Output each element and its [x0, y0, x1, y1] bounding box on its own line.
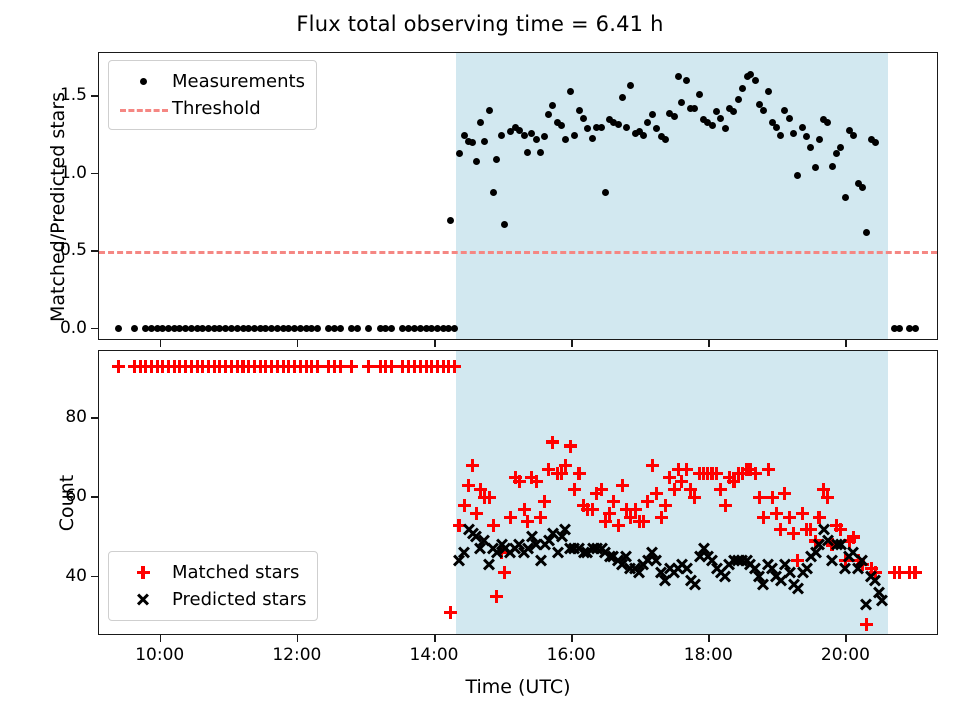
- x-tick-mark-top-panel: [434, 340, 436, 347]
- x-tick-mark: [434, 635, 436, 642]
- y-axis-label-flux-ratio: Matched/Predicted stars: [47, 63, 69, 351]
- page-title: Flux total observing time = 6.41 h: [0, 12, 960, 36]
- x-tick-label: 16:00: [547, 645, 596, 665]
- x-tick-mark: [708, 635, 710, 642]
- x-tick-label: 10:00: [135, 645, 184, 665]
- y-tick-mark: [91, 496, 98, 498]
- x-tick-mark-top-panel: [160, 340, 162, 347]
- legend-item-matched-stars[interactable]: Matched stars: [118, 559, 306, 586]
- legend-item-measurements[interactable]: Measurements: [118, 68, 305, 95]
- x-ticks: 10:0012:0014:0016:0018:0020:00: [98, 635, 938, 680]
- legend-star-counts: Matched stars Predicted stars: [108, 551, 318, 621]
- legend-label-threshold: Threshold: [172, 98, 261, 119]
- y-axis-label-star-counts: Count: [56, 438, 78, 568]
- x-tick-label: 14:00: [410, 645, 459, 665]
- legend-label-measurements: Measurements: [172, 71, 305, 92]
- y-tick-mark: [91, 328, 98, 330]
- y-tick-mark: [91, 576, 98, 578]
- legend-item-threshold[interactable]: Threshold: [118, 95, 305, 122]
- figure-canvas: Flux total observing time = 6.41 h 0.00.…: [0, 0, 960, 720]
- y-tick-mark: [91, 95, 98, 97]
- y-tick-label: 80: [65, 407, 87, 427]
- measurements-marker-icon: [118, 71, 172, 93]
- x-tick-label: 18:00: [684, 645, 733, 665]
- x-tick-mark: [571, 635, 573, 642]
- x-tick-mark-top-panel: [708, 340, 710, 347]
- x-tick-label: 20:00: [821, 645, 870, 665]
- x-tick-mark-top-panel: [845, 340, 847, 347]
- plus-marker-icon: [118, 562, 172, 584]
- x-tick-label: 12:00: [272, 645, 321, 665]
- cross-marker-icon: [118, 589, 172, 611]
- y-tick-label: 40: [65, 566, 87, 586]
- x-tick-mark: [160, 635, 162, 642]
- y-tick-mark: [91, 173, 98, 175]
- legend-label-matched-stars: Matched stars: [172, 562, 299, 583]
- legend-label-predicted-stars: Predicted stars: [172, 589, 306, 610]
- x-tick-mark: [845, 635, 847, 642]
- y-tick-mark: [91, 417, 98, 419]
- y-tick-mark: [91, 250, 98, 252]
- x-tick-mark: [297, 635, 299, 642]
- x-tick-mark-top-panel: [297, 340, 299, 347]
- legend-flux-ratio: Measurements Threshold: [108, 60, 317, 130]
- legend-item-predicted-stars[interactable]: Predicted stars: [118, 586, 306, 613]
- threshold-line-icon: [118, 98, 172, 120]
- x-axis-label: Time (UTC): [98, 676, 938, 698]
- x-tick-mark-top-panel: [571, 340, 573, 347]
